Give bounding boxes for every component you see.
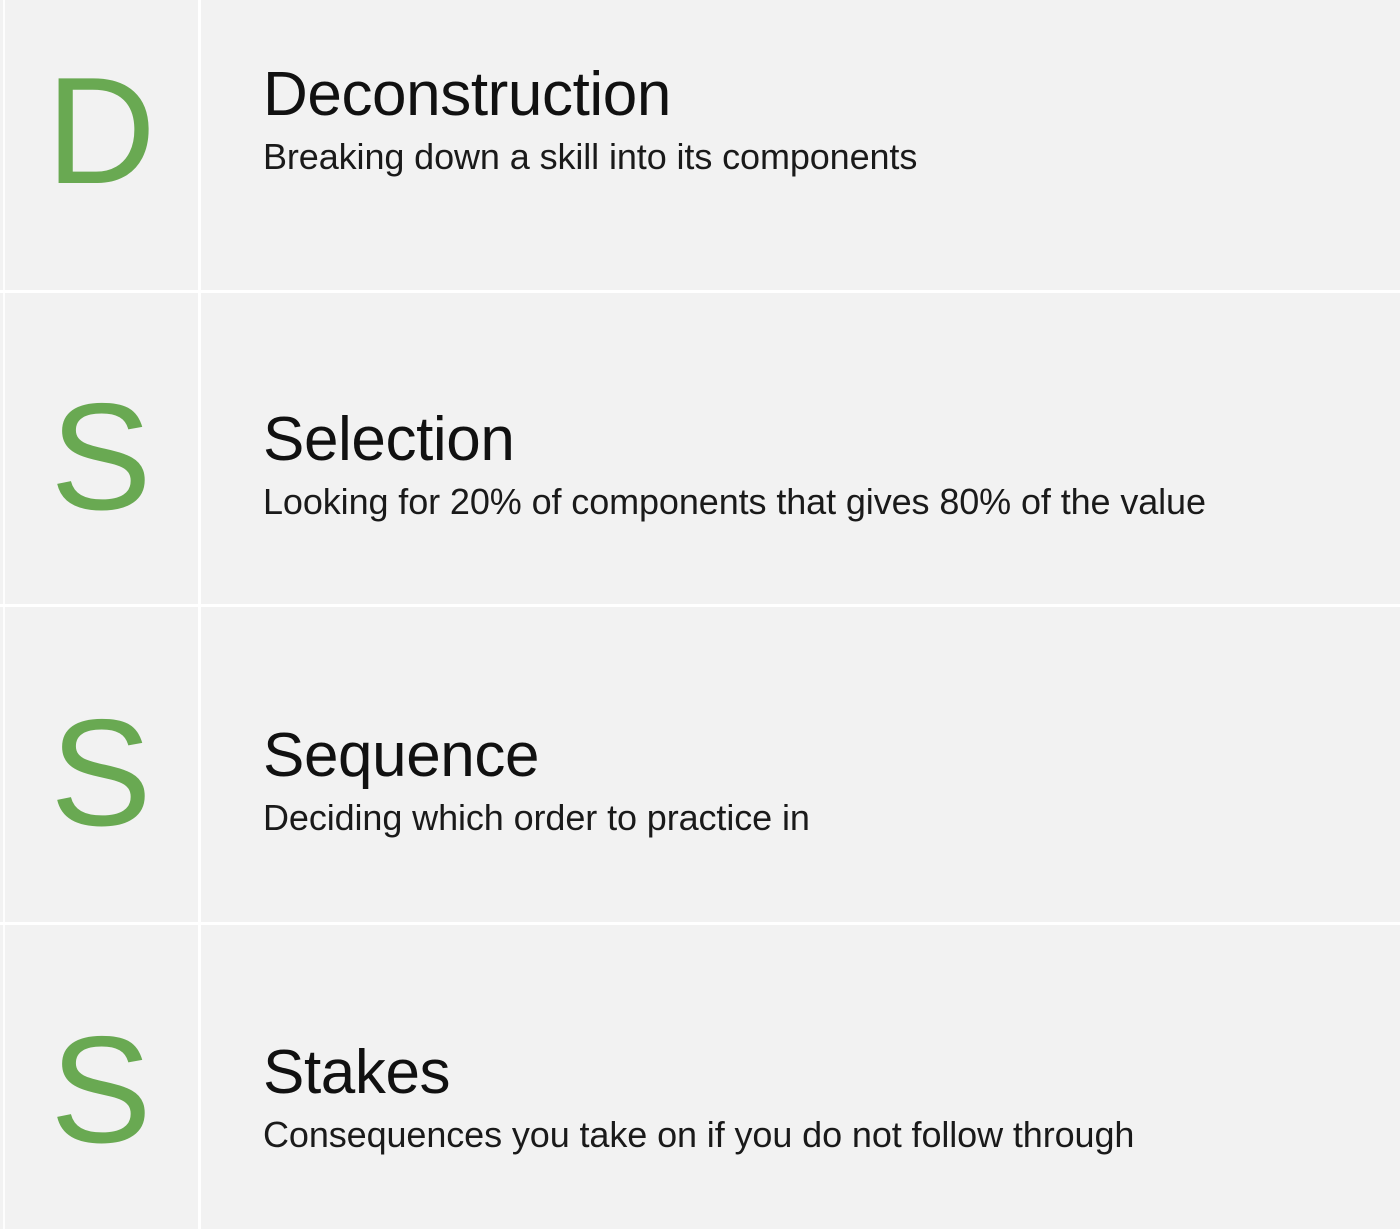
- row-text-cell: Deconstruction Breaking down a skill int…: [201, 0, 1400, 293]
- framework-row-deconstruction: D Deconstruction Breaking down a skill i…: [0, 0, 1400, 293]
- row-text-cell: Selection Looking for 20% of components …: [201, 293, 1400, 607]
- initial-letter-glyph: S: [50, 1014, 150, 1166]
- initial-letter-glyph: D: [46, 55, 155, 207]
- initial-letter-glyph: S: [50, 697, 150, 849]
- initial-letter-cell: S: [0, 293, 201, 607]
- dsss-framework-list: D Deconstruction Breaking down a skill i…: [0, 0, 1400, 1229]
- initial-letter-cell: S: [0, 925, 201, 1229]
- row-subtitle: Consequences you take on if you do not f…: [263, 1113, 1400, 1157]
- row-subtitle: Looking for 20% of components that gives…: [263, 480, 1400, 524]
- row-title: Selection: [263, 407, 1400, 474]
- row-title: Sequence: [263, 723, 1400, 790]
- initial-letter-cell: S: [0, 607, 201, 925]
- row-subtitle: Breaking down a skill into its component…: [263, 135, 1400, 179]
- row-text-cell: Stakes Consequences you take on if you d…: [201, 925, 1400, 1229]
- framework-row-stakes: S Stakes Consequences you take on if you…: [0, 925, 1400, 1229]
- row-text-cell: Sequence Deciding which order to practic…: [201, 607, 1400, 925]
- row-title: Stakes: [263, 1040, 1400, 1107]
- row-subtitle: Deciding which order to practice in: [263, 796, 1400, 840]
- initial-letter-cell: D: [0, 0, 201, 293]
- framework-row-selection: S Selection Looking for 20% of component…: [0, 293, 1400, 607]
- initial-letter-glyph: S: [50, 381, 150, 533]
- framework-row-sequence: S Sequence Deciding which order to pract…: [0, 607, 1400, 925]
- row-title: Deconstruction: [263, 62, 1400, 129]
